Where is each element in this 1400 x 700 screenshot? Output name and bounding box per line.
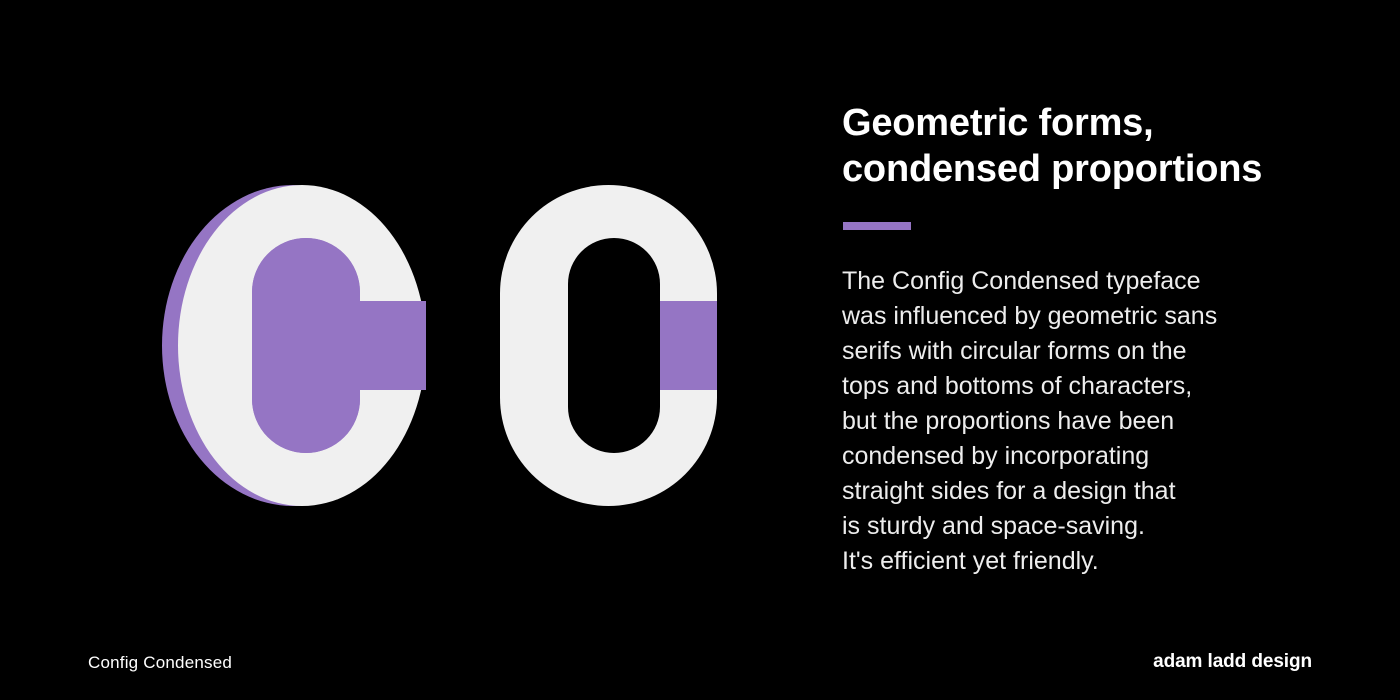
headline-line-2: condensed proportions bbox=[842, 146, 1342, 192]
body-copy: The Config Condensed typeface was influe… bbox=[842, 264, 1342, 579]
accent-rule bbox=[843, 222, 911, 230]
body-line: condensed by incorporating bbox=[842, 439, 1342, 474]
specimen-slide: Geometric forms, condensed proportions T… bbox=[0, 0, 1400, 700]
letter-o-purple-band bbox=[660, 301, 720, 390]
letterform-svg bbox=[0, 0, 800, 700]
body-line: is sturdy and space-saving. bbox=[842, 509, 1342, 544]
body-line: tops and bottoms of characters, bbox=[842, 369, 1342, 404]
text-column: Geometric forms, condensed proportions T… bbox=[842, 0, 1362, 700]
letterform-artwork bbox=[0, 0, 800, 700]
body-line: was influenced by geometric sans bbox=[842, 299, 1342, 334]
body-line: The Config Condensed typeface bbox=[842, 264, 1342, 299]
body-line: straight sides for a design that bbox=[842, 474, 1342, 509]
page-title: Geometric forms, condensed proportions bbox=[842, 100, 1342, 192]
body-line: but the proportions have been bbox=[842, 404, 1342, 439]
footer-typeface-name: Config Condensed bbox=[88, 652, 232, 674]
footer-studio-credit: adam ladd design bbox=[1153, 650, 1312, 674]
body-line: It's efficient yet friendly. bbox=[842, 544, 1342, 579]
headline-line-1: Geometric forms, bbox=[842, 100, 1342, 146]
body-line: serifs with circular forms on the bbox=[842, 334, 1342, 369]
